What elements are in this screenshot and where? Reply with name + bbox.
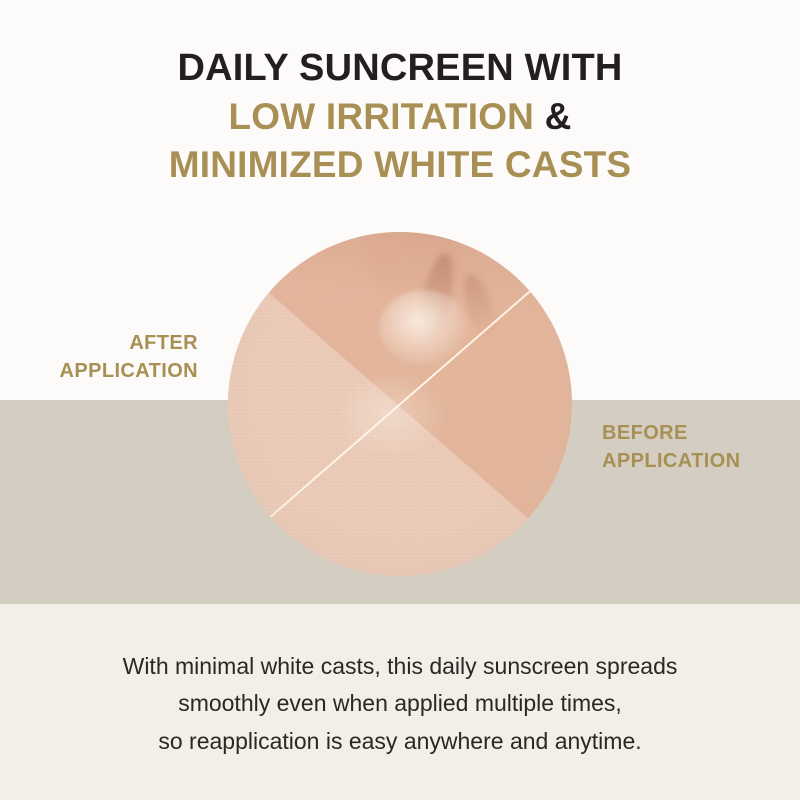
body-copy-line-1: With minimal white casts, this daily sun… — [0, 648, 800, 685]
photo-circle-backdrop — [228, 232, 572, 576]
knuckle-gloss-highlight — [379, 290, 468, 366]
headline-line-1: DAILY SUNCREEN WITH — [0, 44, 800, 93]
headline-ampersand: & — [545, 96, 572, 137]
after-application-label: AFTER APPLICATION — [60, 330, 198, 385]
before-label-line-2: APPLICATION — [602, 448, 740, 476]
after-label-line-1: AFTER — [60, 330, 198, 358]
before-after-photo — [228, 232, 572, 576]
body-copy: With minimal white casts, this daily sun… — [0, 648, 800, 760]
after-label-line-2: APPLICATION — [60, 358, 198, 386]
body-copy-line-3: so reapplication is easy anywhere and an… — [0, 723, 800, 760]
before-label-line-1: BEFORE — [602, 420, 740, 448]
headline-line-2-text: LOW IRRITATION — [229, 96, 545, 137]
product-benefit-banner: DAILY SUNCREEN WITH LOW IRRITATION & MIN… — [0, 0, 800, 800]
body-copy-line-2: smoothly even when applied multiple time… — [0, 685, 800, 722]
before-application-label: BEFORE APPLICATION — [602, 420, 740, 475]
headline: DAILY SUNCREEN WITH LOW IRRITATION & MIN… — [0, 44, 800, 190]
headline-line-3: MINIMIZED WHITE CASTS — [0, 141, 800, 189]
headline-line-2: LOW IRRITATION & — [0, 93, 800, 141]
skin-sheen-highlight — [331, 370, 448, 459]
